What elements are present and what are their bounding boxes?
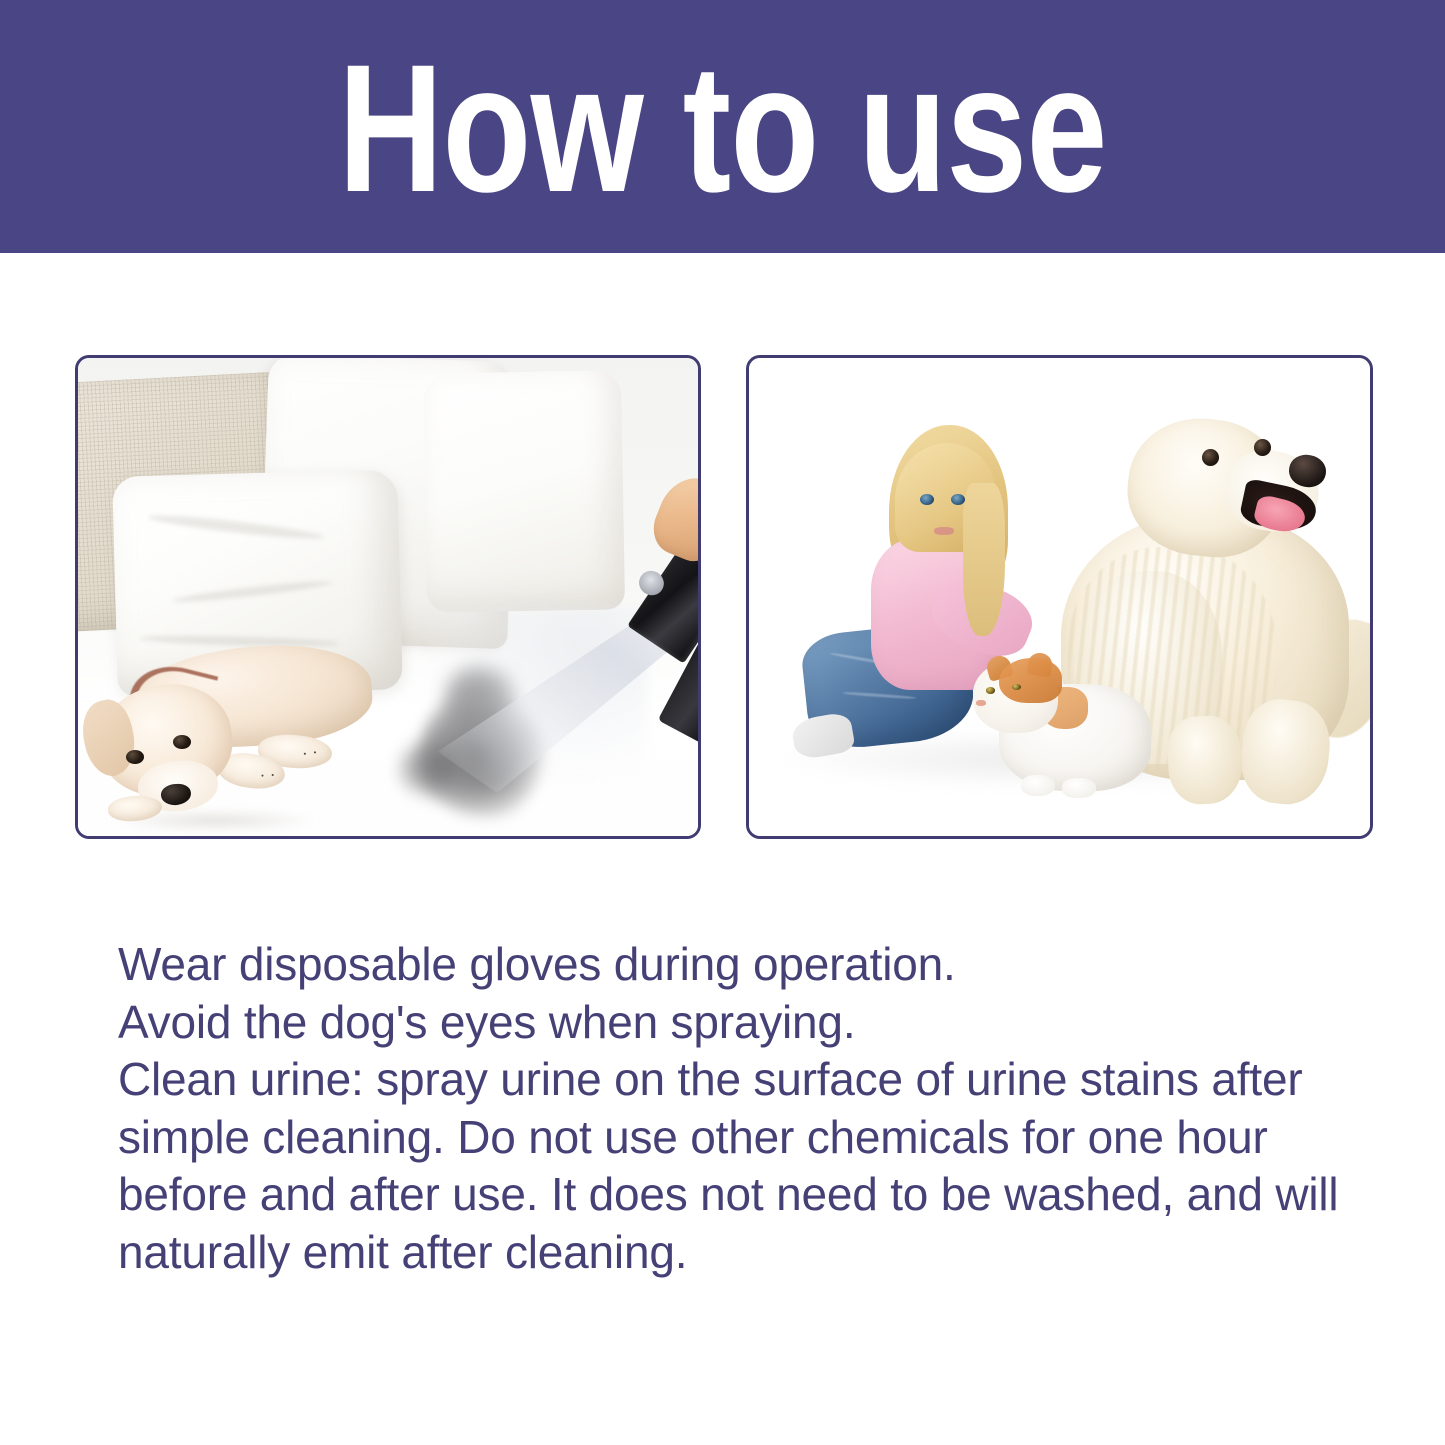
orange-white-cat bbox=[973, 645, 1159, 808]
cat-nose bbox=[976, 700, 985, 706]
puppy-toe bbox=[304, 752, 306, 754]
pets-and-child-photo bbox=[746, 355, 1373, 839]
pillow-crease bbox=[148, 512, 325, 543]
dog-eye bbox=[1202, 449, 1219, 466]
cat-fur-patch bbox=[999, 658, 1062, 704]
cat-paw bbox=[1062, 778, 1096, 798]
white-pillow-back-right bbox=[423, 371, 626, 613]
jeans-seam bbox=[843, 692, 917, 701]
girl-eye bbox=[920, 494, 934, 505]
instruction-line-3: Clean urine: spray urine on the surface … bbox=[118, 1051, 1380, 1281]
puppy-toe bbox=[271, 774, 273, 776]
puppy-toe bbox=[314, 751, 316, 753]
puppy-eye bbox=[173, 735, 191, 749]
instruction-line-2: Avoid the dog's eyes when spraying. bbox=[118, 994, 1380, 1052]
cat-eye bbox=[986, 687, 995, 694]
girl-mouth bbox=[934, 527, 955, 535]
spray-demo-scene bbox=[78, 358, 698, 836]
girl-hair-side bbox=[963, 483, 1005, 636]
pets-and-child-scene bbox=[749, 358, 1370, 836]
page-title: How to use bbox=[338, 45, 1107, 212]
dog-eye bbox=[1254, 439, 1271, 456]
dog-front-leg bbox=[1166, 714, 1244, 806]
girl-eye bbox=[951, 494, 965, 505]
instruction-line-1: Wear disposable gloves during operation. bbox=[118, 936, 1380, 994]
spray-demo-photo bbox=[75, 355, 701, 839]
instructions-block: Wear disposable gloves during operation.… bbox=[118, 936, 1380, 1281]
header-banner: How to use bbox=[0, 0, 1445, 253]
pillow-crease bbox=[172, 578, 332, 605]
puppy-toe bbox=[262, 775, 264, 777]
golden-retriever-puppy bbox=[84, 635, 419, 826]
cat-paw bbox=[1021, 775, 1055, 796]
